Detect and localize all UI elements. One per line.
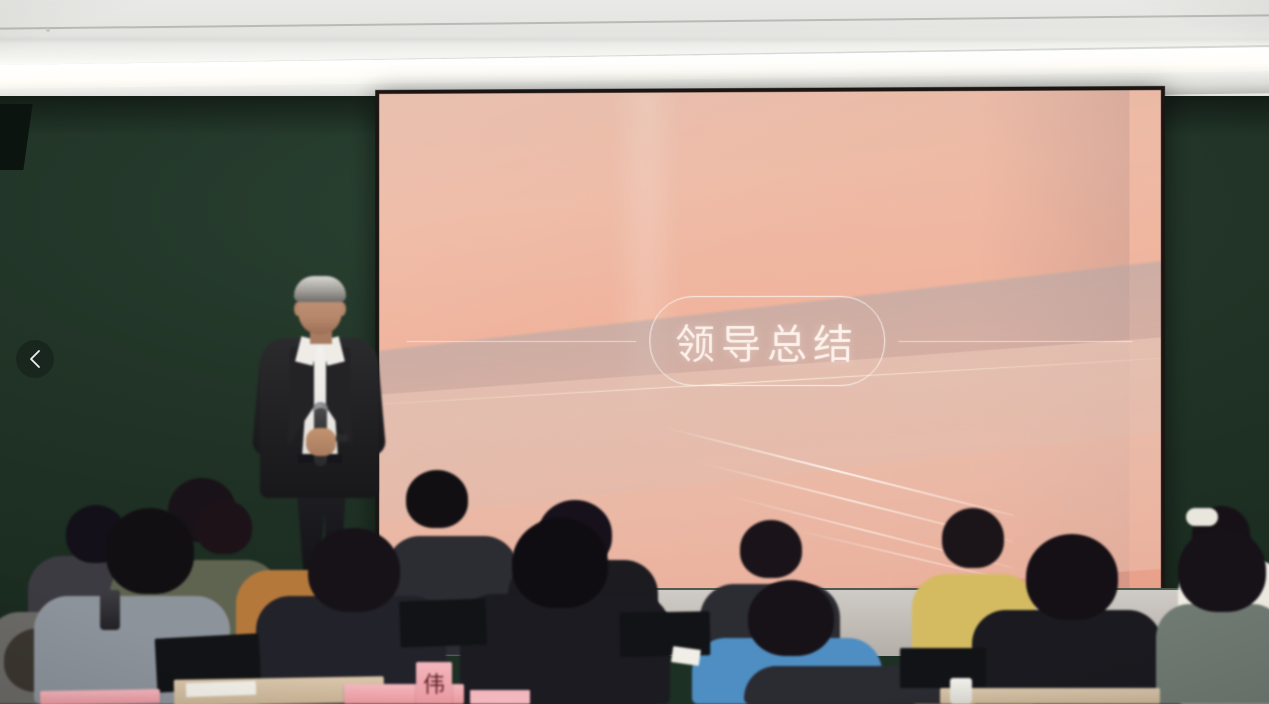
ceiling-seam xyxy=(0,14,1269,29)
presenter-watch xyxy=(336,434,348,442)
slide-title: 领导总结 xyxy=(675,312,859,370)
audience-member-body xyxy=(1156,604,1269,704)
audience-member-head xyxy=(740,520,802,578)
audience-member-head xyxy=(406,470,468,528)
audience-member-head xyxy=(942,508,1004,568)
audience-member-head xyxy=(512,518,608,608)
projection-screen: 领导总结 xyxy=(379,90,1161,592)
name-placard-text: 伟 xyxy=(423,667,445,699)
document-paper xyxy=(470,690,530,704)
slide-title-rule-right xyxy=(898,341,1132,342)
name-placard: 伟 xyxy=(416,662,452,704)
chevron-left-icon xyxy=(28,349,42,369)
laptop xyxy=(900,648,986,688)
thermos xyxy=(100,590,120,630)
conference-table xyxy=(940,688,1160,704)
audience-member-headband xyxy=(1186,508,1218,526)
photo-canvas: 领导总结 xyxy=(0,0,1269,704)
name-placard-strip xyxy=(40,689,160,704)
document-paper xyxy=(671,646,701,666)
ceiling-fixture-dot xyxy=(46,28,50,32)
water-bottle xyxy=(950,678,972,704)
slide-title-rule-left xyxy=(407,341,637,342)
audience-member-head xyxy=(748,580,834,656)
document-paper xyxy=(186,681,256,697)
presenter-hair xyxy=(294,276,346,302)
audience-member-head xyxy=(196,500,252,554)
audience-member-head xyxy=(1178,528,1266,612)
laptop xyxy=(399,599,487,648)
slide-title-pill: 领导总结 xyxy=(649,296,885,386)
previous-image-button[interactable] xyxy=(16,340,54,378)
audience-member-head xyxy=(1026,534,1118,620)
audience-member-head xyxy=(106,508,194,594)
presenter-hands xyxy=(306,428,336,456)
audience-member-head xyxy=(308,528,400,612)
